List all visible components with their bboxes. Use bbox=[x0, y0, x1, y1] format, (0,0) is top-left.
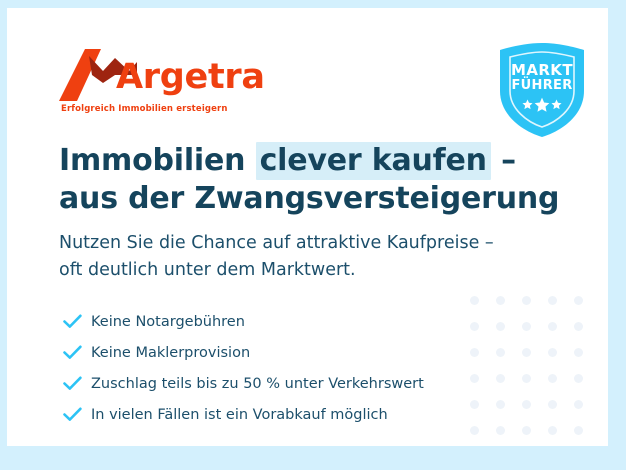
subheading: Nutzen Sie die Chance auf attraktive Kau… bbox=[59, 230, 579, 283]
list-item: Zuschlag teils bis zu 50 % unter Verkehr… bbox=[63, 368, 563, 399]
headline-line2: aus der Zwangsversteigerung bbox=[59, 181, 559, 216]
dot bbox=[574, 374, 583, 383]
dot bbox=[574, 322, 583, 331]
dot bbox=[574, 348, 583, 357]
shield-icon bbox=[496, 41, 588, 139]
list-item-label: In vielen Fällen ist ein Vorabkauf mögli… bbox=[91, 407, 388, 423]
check-icon bbox=[63, 345, 91, 360]
list-item: Keine Notargebühren bbox=[63, 306, 563, 337]
argetra-tagline: Erfolgreich Immobilien ersteigern bbox=[61, 104, 228, 114]
argetra-logo: Argetra Erfolgreich Immobilien ersteiger… bbox=[59, 49, 249, 119]
headline-highlight: clever kaufen bbox=[256, 142, 491, 180]
dot bbox=[548, 296, 557, 305]
check-icon bbox=[63, 314, 91, 329]
dot bbox=[470, 296, 479, 305]
list-item-label: Zuschlag teils bis zu 50 % unter Verkehr… bbox=[91, 376, 424, 392]
check-icon bbox=[63, 407, 91, 422]
check-icon bbox=[63, 376, 91, 391]
headline-line1-after: – bbox=[491, 143, 516, 178]
subheading-line1: Nutzen Sie die Chance auf attraktive Kau… bbox=[59, 233, 494, 253]
list-item: In vielen Fällen ist ein Vorabkauf mögli… bbox=[63, 399, 563, 430]
market-leader-badge: MARKT FÜHRER bbox=[496, 41, 588, 139]
dot bbox=[574, 426, 583, 435]
dot bbox=[522, 296, 531, 305]
subheading-line2: oft deutlich unter dem Marktwert. bbox=[59, 260, 356, 280]
list-item: Keine Maklerprovision bbox=[63, 337, 563, 368]
dot bbox=[574, 400, 583, 409]
list-item-label: Keine Maklerprovision bbox=[91, 345, 250, 361]
promo-card: Argetra Erfolgreich Immobilien ersteiger… bbox=[7, 8, 608, 446]
argetra-wordmark: Argetra bbox=[116, 60, 265, 95]
dot bbox=[496, 296, 505, 305]
headline: Immobilien clever kaufen – aus der Zwang… bbox=[59, 142, 579, 218]
dot bbox=[574, 296, 583, 305]
headline-line1-before: Immobilien bbox=[59, 143, 256, 178]
benefit-list: Keine Notargebühren Keine Maklerprovisio… bbox=[63, 306, 563, 430]
page-frame: Argetra Erfolgreich Immobilien ersteiger… bbox=[0, 0, 626, 470]
list-item-label: Keine Notargebühren bbox=[91, 314, 245, 330]
